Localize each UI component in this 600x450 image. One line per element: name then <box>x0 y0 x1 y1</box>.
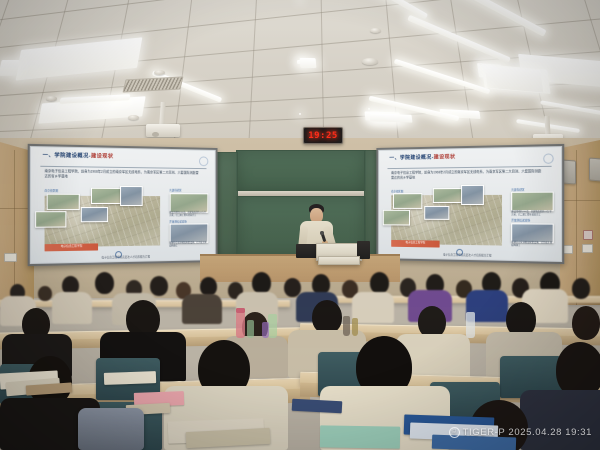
audience-head <box>370 272 389 294</box>
ceiling <box>0 0 600 150</box>
water-bottle <box>247 320 254 338</box>
lecture-hall-photo: 一、学院建设概况-建设现状 南京电子信息工程学院，前身为1968年2月成立的南京… <box>0 0 600 450</box>
audience-head <box>95 272 114 294</box>
watermark: © TIGER-P 2025.04.28 19:31 <box>449 427 592 438</box>
ceiling-panel-light <box>0 60 20 76</box>
smoke-detector <box>46 96 57 101</box>
clock-time: 19:25 <box>308 131 338 141</box>
audience-torso <box>352 292 394 323</box>
smoke-detector <box>362 58 378 65</box>
wall-outlet-plate[interactable] <box>582 244 593 253</box>
wall-switch-plate[interactable] <box>4 253 17 262</box>
bottle-cap <box>236 308 245 313</box>
book <box>104 371 156 385</box>
air-conditioning-vent <box>123 76 184 92</box>
chalkboard-upper <box>236 150 366 194</box>
microphone-head <box>320 231 324 235</box>
watermark-text: TIGER-P 2025.04.28 19:31 <box>463 427 592 438</box>
water-bottle <box>268 314 277 338</box>
wall-seam <box>14 150 15 300</box>
ceiling-panel-light <box>299 113 301 115</box>
ceiling-panel-light <box>370 113 413 123</box>
screen-frame <box>28 144 218 266</box>
smoke-detector <box>370 28 381 33</box>
smoke-detector <box>154 70 165 75</box>
ceiling-panel-light <box>300 58 317 68</box>
audience-torso <box>520 390 600 450</box>
audience-head <box>150 276 168 296</box>
paper-sheet <box>320 425 400 448</box>
audience-head <box>572 306 600 340</box>
audience-torso <box>182 294 222 324</box>
smoke-detector <box>128 115 139 120</box>
screen-frame <box>376 144 564 264</box>
led-wall-clock: 19:25 <box>303 127 343 144</box>
chalkboard-left-sliver <box>214 152 238 258</box>
water-bottle <box>352 318 358 336</box>
water-bottle <box>236 312 245 338</box>
audience-head <box>38 286 52 301</box>
podium-monitor <box>296 244 318 258</box>
projection-screen-right: 一、学院建设概况-建设现状 南京电子信息工程学院，前身为1968年2月成立的南京… <box>376 144 564 264</box>
audience-head <box>252 272 271 294</box>
water-bottle <box>343 316 350 336</box>
paper-sheet <box>292 399 343 414</box>
audience-head <box>572 278 590 299</box>
water-bottle <box>262 322 269 338</box>
audience-head <box>312 300 342 334</box>
ceiling-tube-light <box>394 59 491 95</box>
ceiling-tube-light <box>356 0 428 20</box>
backpack <box>78 408 144 450</box>
water-bottle <box>466 312 475 338</box>
ceiling-panel-light <box>368 108 370 110</box>
lectern-base <box>318 256 360 265</box>
wall-seam <box>560 200 600 201</box>
copyright-icon: © <box>449 427 460 438</box>
projection-screen-left: 一、学院建设概况-建设现状 南京电子信息工程学院，前身为1968年2月成立的南京… <box>28 144 218 266</box>
wall-speaker <box>589 158 600 182</box>
emergency-call-plate[interactable] <box>583 230 593 240</box>
audience-torso <box>52 292 92 324</box>
